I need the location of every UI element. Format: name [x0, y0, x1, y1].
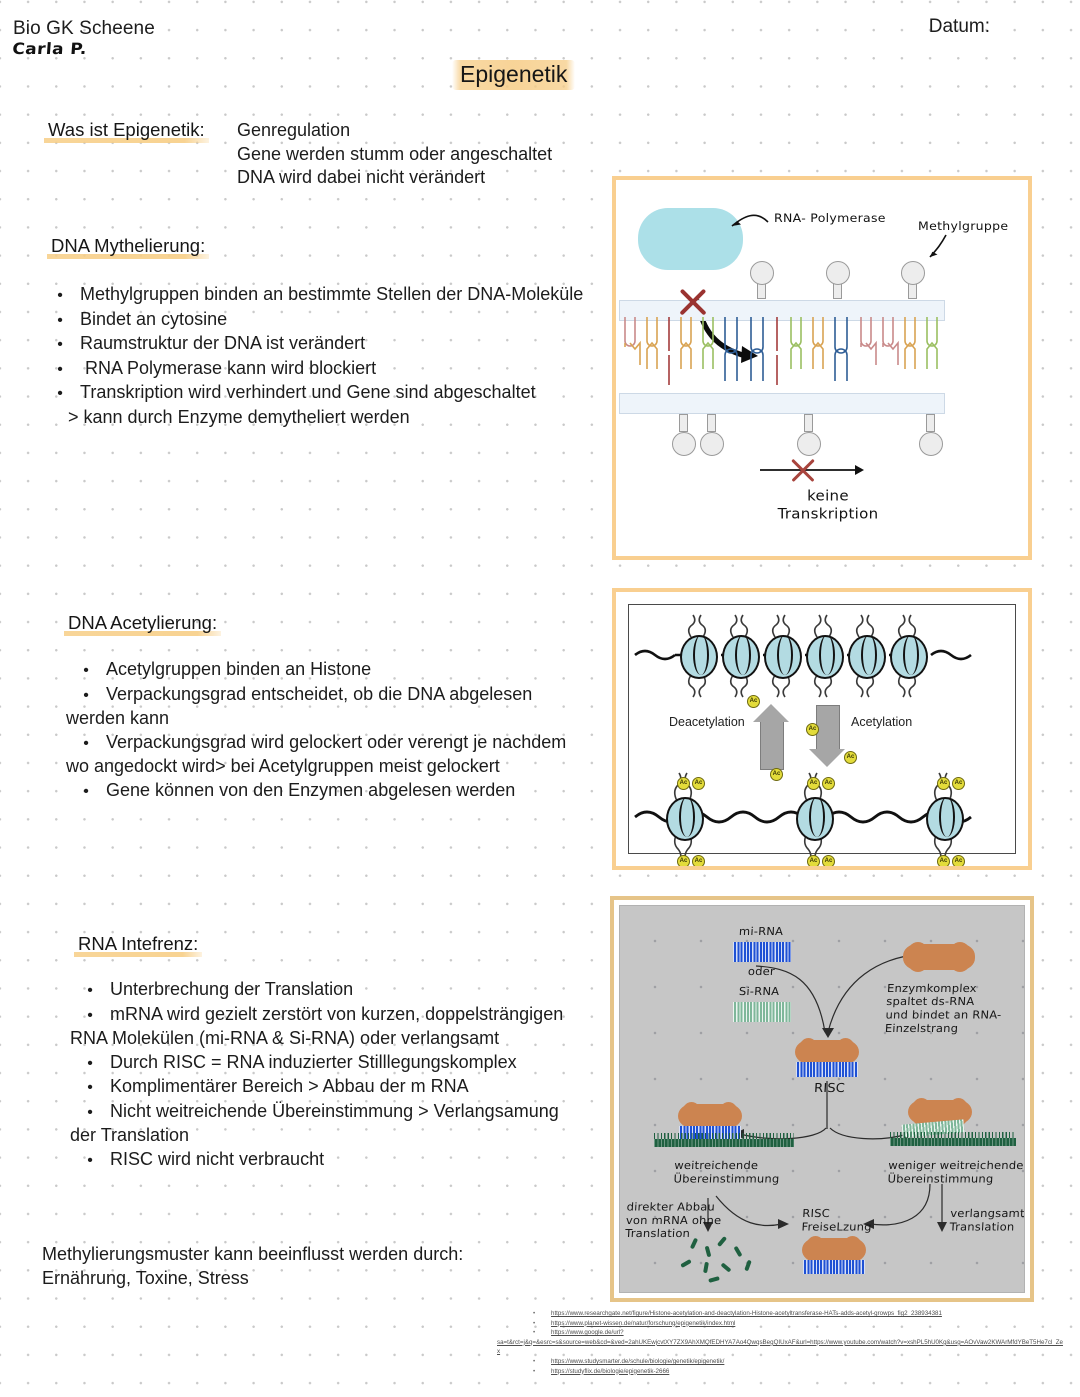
nucleosome-icon	[680, 635, 718, 679]
page-title: Epigenetik	[452, 60, 575, 90]
label-deacetylation: Deacetylation	[669, 715, 745, 729]
list-item: Acetylgruppen binden an Histone	[66, 658, 578, 683]
nucleosome-icon	[796, 797, 834, 841]
list-item: Unterbrechung der Translation	[70, 978, 570, 1003]
acetyl-group-icon: Ac	[844, 751, 857, 764]
figure-histone-acetylation: Deacetylation Acetylation Ac Ac Ac Ac Ac…	[612, 588, 1032, 870]
source-link[interactable]: https://studyflix.de/biologie/epigenetik…	[505, 1367, 1065, 1377]
label-risc: RISC	[814, 1082, 846, 1095]
acetyl-group-icon: Ac	[822, 777, 835, 790]
methyl-group-icon	[833, 281, 842, 299]
list-item: RNA Polymerase kann wird blockiert	[40, 357, 596, 382]
label-si-rna: Si-RNA	[739, 984, 780, 997]
list-item: Bindet an cytosine	[40, 308, 596, 333]
figure-rna-interference-photo: mi-RNA oder Si-RNA Enzymkomplex spaltet …	[610, 896, 1034, 1302]
nucleosome-icon	[666, 797, 704, 841]
list-item: Nicht weitreichende Übereinstimmung > Ve…	[70, 1100, 570, 1148]
acetylation-arrow-shaft	[816, 705, 840, 751]
figure2-canvas: Deacetylation Acetylation Ac Ac Ac Ac Ac…	[628, 604, 1016, 854]
source-link[interactable]: https://www.google.de/url?	[505, 1328, 1065, 1338]
acetyl-group-icon: Ac	[937, 777, 950, 790]
enzyme-complex-shape	[903, 944, 975, 970]
list-item: Durch RISC = RNA induzierter Stilllegung…	[70, 1051, 570, 1076]
methyl-group-icon	[804, 414, 813, 432]
label-direkter-abbau: direkter Abbau von mRNA ohne Translation	[625, 1200, 723, 1240]
methyl-group-icon	[679, 414, 688, 432]
label-keine-transkription: keine Transkription	[768, 487, 888, 523]
source-link[interactable]: https://www.studysmarter.de/schule/biolo…	[505, 1357, 1065, 1367]
list-item: mRNA wird gezielt zerstört von kurzen, d…	[70, 1003, 570, 1051]
label-acetylation: Acetylation	[851, 715, 912, 729]
rnai-bullet-list: Unterbrechung der Translation mRNA wird …	[70, 978, 570, 1172]
list-item: Verpackungsgrad wird gelockert oder vere…	[66, 731, 578, 779]
acetyl-group-icon: Ac	[692, 855, 705, 868]
acetylation-bullet-list: Acetylgruppen binden an Histone Verpacku…	[66, 658, 578, 803]
acetyl-group-icon: Ac	[807, 855, 820, 868]
acetyl-group-icon: Ac	[806, 723, 819, 736]
acetyl-group-icon: Ac	[952, 855, 965, 868]
heading-dna-methylierung: DNA Mythelierung:	[47, 235, 209, 259]
label-mi-rna: mi-RNA	[739, 924, 784, 937]
label-verlangsamte-translation: verlangsamte Translation	[949, 1207, 1025, 1234]
acetyl-group-icon: Ac	[822, 855, 835, 868]
source-link-long-url[interactable]: sa=t&rct=j&q=&esrc=s&source=web&cd=&ved=…	[497, 1338, 1065, 1357]
figure-dna-methylation: RNA- Polymerase Methylgruppe	[612, 176, 1032, 560]
nucleosome-icon	[890, 635, 928, 679]
methyl-group-icon	[707, 414, 716, 432]
acetyl-group-icon: Ac	[807, 777, 820, 790]
acetyl-group-icon: Ac	[677, 777, 690, 790]
list-item: Gene können von den Enzymen abgelesen we…	[66, 779, 578, 804]
acetyl-group-icon: Ac	[770, 768, 783, 781]
risc-protein-shape	[678, 1104, 742, 1128]
label-weitreichende-uebereinstimmung: weitreichende Übereinstimmung	[673, 1159, 780, 1186]
label-enzymkomplex: Enzymkomplex spaltet ds-RNA und bindet a…	[885, 981, 1004, 1034]
list-item: RISC wird nicht verbraucht	[70, 1148, 570, 1173]
list-item: Methylgruppen binden an bestimmte Stelle…	[40, 283, 596, 308]
rna-polymerase-shape	[638, 208, 743, 270]
label-risc-freisetzung: RISC FreiseLzung	[801, 1207, 873, 1234]
mrna-strand	[654, 1139, 794, 1147]
methylation-note: > kann durch Enzyme demytheliert werden	[40, 406, 596, 430]
methylation-bullet-list: Methylgruppen binden an bestimmte Stelle…	[40, 283, 596, 429]
list-item: Komplimentärer Bereich > Abbau der m RNA	[70, 1075, 570, 1100]
figure1-canvas: RNA- Polymerase Methylgruppe	[616, 180, 1028, 556]
si-rna-duplex	[733, 1002, 791, 1022]
dna-backbone-bottom	[619, 393, 945, 414]
nucleosome-icon	[722, 635, 760, 679]
methyl-group-icon	[757, 281, 766, 299]
figure3-canvas: mi-RNA oder Si-RNA Enzymkomplex spaltet …	[619, 905, 1025, 1293]
nucleosome-icon	[926, 797, 964, 841]
intro-text: Genregulation Gene werden stumm oder ang…	[237, 119, 617, 190]
deacetylation-arrow-head	[753, 704, 789, 722]
heading-dna-acetylierung: DNA Acetylierung:	[64, 612, 221, 636]
source-link[interactable]: https://www.planet-wissen.de/natur/forsc…	[505, 1319, 1065, 1329]
nucleosome-icon	[848, 635, 886, 679]
source-link[interactable]: https://www.researchgate.net/figure/Hist…	[505, 1309, 1065, 1319]
student-name-handwritten: Carla P.	[12, 40, 88, 58]
heading-was-ist-epigenetik: Was ist Epigenetik:	[44, 119, 209, 143]
risc-bound-rna	[796, 1062, 858, 1077]
risc-protein-shape	[795, 1040, 859, 1064]
date-label: Datum:	[929, 16, 990, 38]
heading-rna-interferenz: RNA Intefrenz:	[74, 933, 202, 957]
list-item: Transkription wird verhindert und Gene s…	[40, 381, 596, 406]
nucleosome-icon	[764, 635, 802, 679]
methyl-group-icon	[908, 281, 917, 299]
acetyl-group-icon: Ac	[692, 777, 705, 790]
mi-rna-duplex	[733, 942, 791, 962]
acetyl-group-icon: Ac	[747, 695, 760, 708]
label-oder: oder	[748, 964, 776, 977]
acetyl-group-icon: Ac	[677, 855, 690, 868]
methyl-group-icon	[926, 414, 935, 432]
label-weniger-weitreichende: weniger weitreichende Übereinstimmung	[887, 1159, 1024, 1186]
acetyl-group-icon: Ac	[952, 777, 965, 790]
course-title: Bio GK Scheene	[13, 18, 155, 40]
acetylation-arrow-head	[809, 749, 845, 767]
risc-bound-rna	[803, 1260, 865, 1274]
list-item: Raumstruktur der DNA ist verändert	[40, 332, 596, 357]
nucleosome-icon	[806, 635, 844, 679]
deacetylation-arrow-shaft	[760, 720, 784, 770]
dna-base-pairs	[619, 317, 945, 395]
blocked-x-icon	[676, 285, 710, 319]
mrna-strand	[890, 1138, 1016, 1146]
source-links: https://www.researchgate.net/figure/Hist…	[505, 1309, 1065, 1376]
risc-protein-shape	[802, 1238, 866, 1262]
list-item: Verpackungsgrad entscheidet, ob die DNA …	[66, 683, 578, 731]
label-methylgruppe: Methylgruppe	[918, 218, 1008, 232]
no-transcription-x-icon	[788, 454, 818, 486]
acetyl-group-icon: Ac	[937, 855, 950, 868]
conclusion-text: Methylierungsmuster kann beeinflusst wer…	[42, 1243, 582, 1290]
label-rna-polymerase: RNA- Polymerase	[774, 210, 886, 224]
notes-page: Bio GK Scheene Carla P. Datum: Epigeneti…	[0, 0, 1080, 1397]
